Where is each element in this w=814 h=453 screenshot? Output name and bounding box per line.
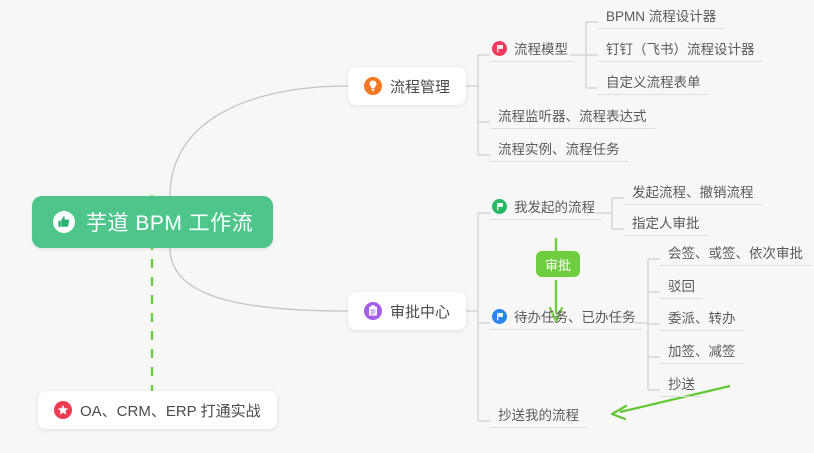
callout-tag-label: 审批 bbox=[545, 255, 571, 274]
callout-tag-approval[interactable]: 审批 bbox=[536, 251, 580, 277]
leaf-label: 流程监听器、流程表达式 bbox=[498, 110, 647, 124]
leaf-add-remove-sign[interactable]: 加签、减签 bbox=[660, 341, 744, 364]
leaf-custom-form[interactable]: 自定义流程表单 bbox=[598, 72, 709, 95]
leaf-label: 指定人审批 bbox=[632, 217, 700, 231]
leaf-label: 发起流程、撤销流程 bbox=[632, 186, 754, 200]
leaf-label: 钉钉（飞书）流程设计器 bbox=[606, 43, 755, 57]
node-todo-done-tasks[interactable]: 待办任务、已办任务 bbox=[490, 306, 642, 330]
accent-node-integration[interactable]: OA、CRM、ERP 打通实战 bbox=[38, 391, 277, 429]
flag-icon bbox=[492, 309, 507, 324]
leaf-label: 抄送我的流程 bbox=[498, 409, 579, 423]
leaf-delegate-transfer[interactable]: 委派、转办 bbox=[660, 308, 744, 331]
root-node[interactable]: 芋道 BPM 工作流 bbox=[32, 196, 273, 248]
accent-node-label: OA、CRM、ERP 打通实战 bbox=[80, 400, 261, 421]
leaf-multi-sign[interactable]: 会签、或签、依次审批 bbox=[660, 243, 811, 266]
root-label: 芋道 BPM 工作流 bbox=[86, 207, 253, 237]
lightbulb-icon bbox=[364, 77, 382, 95]
thumbs-up-icon bbox=[52, 210, 76, 234]
wire-root-to-process-management bbox=[170, 86, 348, 196]
leaf-cc-to-me[interactable]: 抄送我的流程 bbox=[490, 405, 587, 428]
leaf-label: BPMN 流程设计器 bbox=[606, 10, 716, 24]
branch-process-management[interactable]: 流程管理 bbox=[348, 67, 466, 105]
leaf-label: 加签、减签 bbox=[668, 345, 736, 359]
leaf-process-instance[interactable]: 流程实例、流程任务 bbox=[490, 139, 628, 162]
node-process-model[interactable]: 流程模型 bbox=[490, 38, 574, 62]
leaf-label: 会签、或签、依次审批 bbox=[668, 247, 803, 261]
leaf-label: 流程实例、流程任务 bbox=[498, 143, 620, 157]
flag-icon bbox=[492, 41, 507, 56]
label-process-model: 流程模型 bbox=[514, 43, 568, 57]
leaf-label: 委派、转办 bbox=[668, 312, 736, 326]
branch-approval-center[interactable]: 审批中心 bbox=[348, 292, 466, 330]
mindmap-canvas: 芋道 BPM 工作流 流程管理 流程模型 BPMN 流程设计器 钉钉（飞书）流程 bbox=[0, 0, 814, 453]
branch-label-approval-center: 审批中心 bbox=[390, 301, 450, 322]
leaf-bpmn-designer[interactable]: BPMN 流程设计器 bbox=[598, 6, 724, 29]
star-icon bbox=[54, 401, 72, 419]
leaf-label: 自定义流程表单 bbox=[606, 76, 701, 90]
leaf-reject[interactable]: 驳回 bbox=[660, 276, 703, 299]
label-todo-done-tasks: 待办任务、已办任务 bbox=[514, 311, 636, 325]
leaf-dingtalk-designer[interactable]: 钉钉（飞书）流程设计器 bbox=[598, 39, 763, 62]
branch-label-process-management: 流程管理 bbox=[390, 76, 450, 97]
leaf-label: 抄送 bbox=[668, 378, 695, 392]
leaf-assignee-approval[interactable]: 指定人审批 bbox=[624, 213, 708, 236]
flag-icon bbox=[492, 199, 507, 214]
leaf-start-cancel-process[interactable]: 发起流程、撤销流程 bbox=[624, 182, 762, 205]
wire-root-to-approval-center bbox=[170, 248, 348, 311]
label-my-initiated: 我发起的流程 bbox=[514, 201, 595, 215]
leaf-label: 驳回 bbox=[668, 280, 695, 294]
clipboard-icon bbox=[364, 302, 382, 320]
leaf-cc[interactable]: 抄送 bbox=[660, 374, 703, 397]
node-my-initiated[interactable]: 我发起的流程 bbox=[490, 196, 601, 220]
leaf-process-listener[interactable]: 流程监听器、流程表达式 bbox=[490, 106, 655, 129]
